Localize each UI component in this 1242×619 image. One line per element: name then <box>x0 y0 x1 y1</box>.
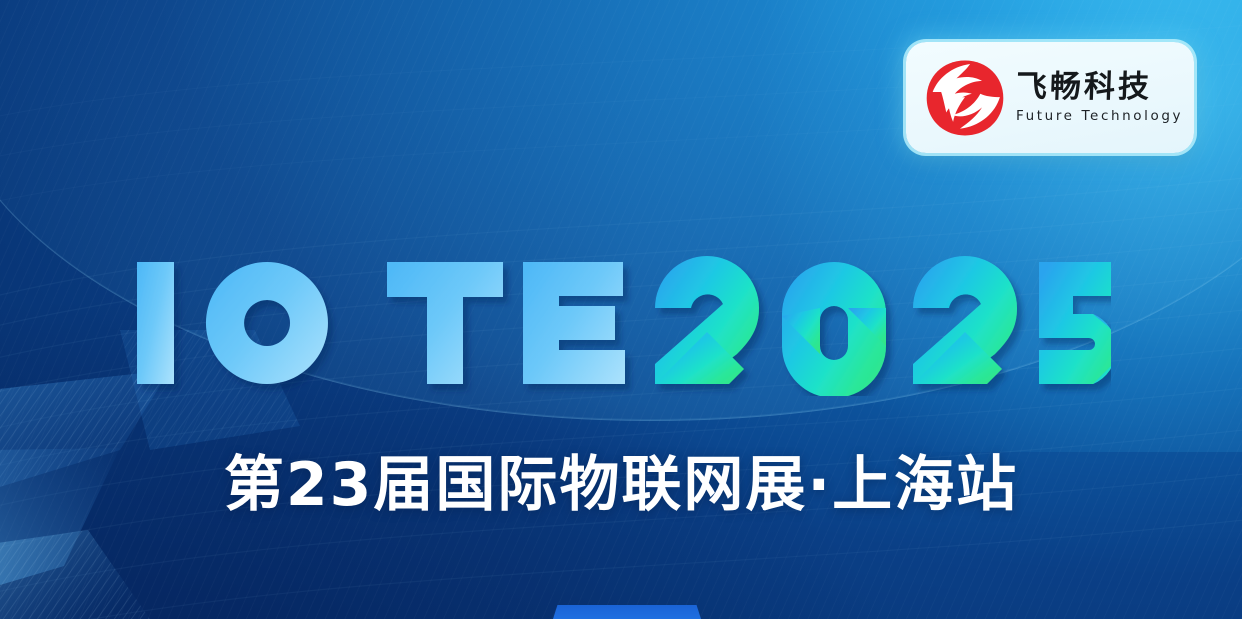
logo-brand-en: Future Technology <box>1016 108 1183 124</box>
subtitle-text: 第23届国际物联网展·上海站 <box>0 455 1242 515</box>
logo-wordmark: 飞畅科技 Future Technology <box>1016 71 1183 125</box>
feichang-logo-icon <box>922 58 1008 138</box>
logo-brand-cn: 飞畅科技 <box>1015 71 1183 104</box>
iote-2025-banner: 第23届国际物联网展·上海站 飞畅科技 Future Technology <box>0 0 1242 619</box>
logo-badge[interactable]: 飞畅科技 Future Technology <box>906 42 1194 153</box>
bottom-center-tab <box>553 605 701 619</box>
